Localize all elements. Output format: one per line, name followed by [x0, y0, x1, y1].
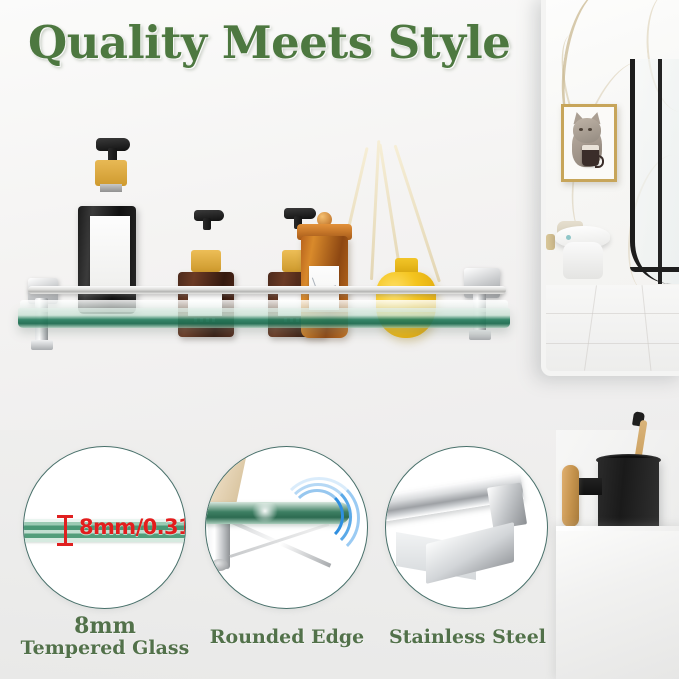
feature-label-thickness-value: 8mm: [0, 615, 210, 637]
glass-shelf-assembly: [18, 150, 518, 365]
product-marketing-image: Quality Meets Style: [0, 0, 679, 679]
cat-eye: [588, 128, 592, 131]
counter-edge: [556, 526, 679, 531]
wall-mirror: [541, 0, 679, 376]
shower-mullion: [658, 59, 662, 284]
handle-mount: [576, 478, 602, 495]
stainless-bar-end: [487, 483, 527, 530]
cat-artwork: [566, 109, 612, 177]
bracket-foot: [469, 330, 491, 340]
page-title: Quality Meets Style: [28, 14, 548, 74]
tile-grout-line: [546, 313, 679, 314]
shower-glass-panel: [630, 59, 679, 284]
shower-track: [630, 267, 679, 272]
tile-grout-line: [642, 285, 652, 371]
tile-grout-line: [584, 285, 597, 370]
mug-icon: [582, 145, 599, 166]
mirror-reflection: [546, 0, 679, 371]
feature-label-thickness-text: Tempered Glass: [21, 637, 190, 659]
feature-circle-rounded-edge: [205, 446, 368, 609]
tile-floor: [546, 285, 679, 371]
feature-circle-stainless-steel: [385, 446, 548, 609]
counter-top: [556, 526, 679, 679]
tile-grout-line: [546, 343, 679, 344]
wooden-handle: [562, 465, 579, 527]
bracket-screw: [211, 559, 228, 571]
thickness-callout: 8mm/0.31": [79, 515, 186, 539]
cat-artwork-frame: [561, 104, 617, 182]
feature-circle-thickness: 8mm/0.31": [23, 446, 186, 609]
features-section: 8mm/0.31" 8mm Tempered Glass Rounded Edg…: [0, 430, 679, 679]
black-soap-dispenser: [78, 206, 136, 314]
diffuser-reed: [370, 140, 380, 280]
hero-section: Quality Meets Style: [0, 0, 679, 430]
dispenser-neck: [100, 184, 122, 192]
motion-arc-icon: [278, 477, 360, 559]
feature-label-thickness: 8mm Tempered Glass: [0, 615, 210, 659]
feature-label-rounded-edge: Rounded Edge: [193, 626, 381, 648]
shelf-guard-rail: [28, 286, 506, 294]
glass-highlight: [252, 503, 278, 523]
cat-eye: [579, 128, 583, 131]
pump-stem: [203, 218, 211, 230]
toilet-control-button: [566, 235, 571, 240]
shelf-glass-edge: [18, 308, 510, 328]
cat-head: [573, 118, 601, 143]
dispenser-collar: [95, 160, 127, 186]
toilet-base: [563, 242, 603, 279]
bottle-cap: [191, 250, 221, 272]
dimension-marker-icon: [57, 515, 73, 546]
feature-label-stainless-steel: Stainless Steel: [370, 626, 565, 648]
bracket-foot: [31, 340, 53, 350]
toilet-paper-roll: [546, 234, 555, 250]
bottle-label: [90, 216, 130, 286]
glass-shower-enclosure: [630, 59, 679, 284]
